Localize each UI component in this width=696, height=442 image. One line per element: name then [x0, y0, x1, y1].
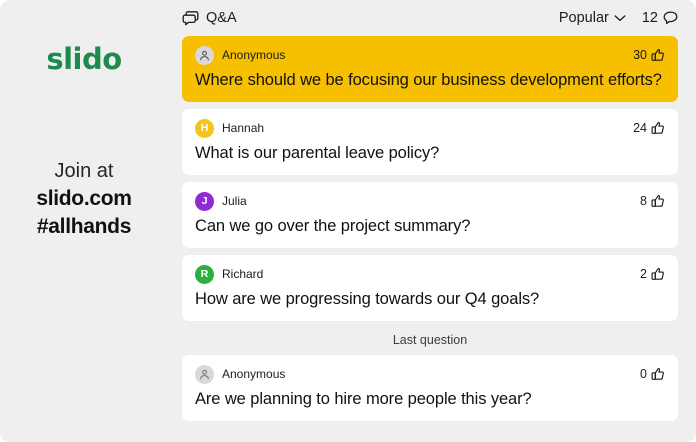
qa-header-controls: Popular 12: [559, 10, 678, 26]
slido-logo: slido: [0, 42, 168, 76]
left-info-panel: slido Join at slido.com #allhands: [0, 0, 168, 442]
avatar: R: [195, 265, 214, 284]
question-card[interactable]: H Hannah 24 What is our parental leave: [182, 109, 678, 175]
upvote-count: 2: [640, 267, 647, 281]
question-text: What is our parental leave policy?: [195, 142, 665, 164]
upvote-count: 8: [640, 194, 647, 208]
thumbs-up-icon: [651, 194, 665, 208]
thumbs-up-icon: [651, 367, 665, 381]
qa-title-label: Q&A: [206, 10, 237, 26]
question-author: Anonymous: [222, 48, 285, 62]
question-author: Richard: [222, 267, 263, 281]
question-text: Where should we be focusing our business…: [195, 69, 665, 91]
person-icon: [199, 369, 210, 380]
upvote-control[interactable]: 30: [633, 48, 665, 62]
question-card-header: R Richard 2: [195, 264, 665, 284]
avatar: H: [195, 119, 214, 138]
upvote-count: 24: [633, 121, 647, 135]
qa-header: Q&A Popular 12: [168, 0, 688, 36]
upvote-control[interactable]: 0: [640, 367, 665, 381]
upvote-control[interactable]: 24: [633, 121, 665, 135]
join-at-label: Join at: [0, 158, 168, 185]
chevron-down-icon: [614, 14, 626, 22]
slido-presentation-screen: slido Join at slido.com #allhands Q&A Po…: [0, 0, 696, 442]
speech-bubbles-icon: [182, 11, 199, 26]
question-text: Are we planning to hire more people this…: [195, 388, 665, 410]
question-card[interactable]: J Julia 8 Can we go over the project s: [182, 182, 678, 248]
avatar-initial: H: [201, 122, 209, 134]
person-icon: [199, 50, 210, 61]
question-author: Julia: [222, 194, 247, 208]
question-card-header: J Julia 8: [195, 191, 665, 211]
avatar: [195, 46, 214, 65]
upvote-control[interactable]: 2: [640, 267, 665, 281]
avatar-initial: R: [201, 268, 209, 280]
question-card[interactable]: Anonymous 30 Where should we be focusing…: [182, 36, 678, 102]
question-card[interactable]: Anonymous 0 Are we planning to hire more…: [182, 355, 678, 421]
question-card[interactable]: R Richard 2 How are we progressing tow: [182, 255, 678, 321]
question-card-header: H Hannah 24: [195, 118, 665, 138]
question-author: Anonymous: [222, 367, 285, 381]
question-text: How are we progressing towards our Q4 go…: [195, 288, 665, 310]
qa-panel: Q&A Popular 12: [168, 0, 696, 442]
avatar: J: [195, 192, 214, 211]
upvote-count: 30: [633, 48, 647, 62]
question-text: Can we go over the project summary?: [195, 215, 665, 237]
question-card-header: Anonymous 0: [195, 364, 665, 384]
sort-dropdown-label: Popular: [559, 10, 609, 26]
last-question-divider: Last question: [182, 328, 678, 355]
join-event-code: #allhands: [0, 213, 168, 241]
thumbs-up-icon: [651, 48, 665, 62]
question-card-header: Anonymous 30: [195, 45, 665, 65]
upvote-control[interactable]: 8: [640, 194, 665, 208]
upvote-count: 0: [640, 367, 647, 381]
speech-bubble-icon: [663, 11, 678, 25]
avatar: [195, 365, 214, 384]
join-url: slido.com: [0, 185, 168, 213]
thumbs-up-icon: [651, 121, 665, 135]
question-count-group: 12: [642, 10, 678, 26]
question-count-value: 12: [642, 10, 658, 26]
thumbs-up-icon: [651, 267, 665, 281]
join-instructions: Join at slido.com #allhands: [0, 158, 168, 241]
question-list: Anonymous 30 Where should we be focusing…: [168, 36, 688, 421]
avatar-initial: J: [202, 195, 208, 207]
sort-dropdown[interactable]: Popular: [559, 10, 626, 26]
question-author: Hannah: [222, 121, 264, 135]
qa-title-group: Q&A: [182, 10, 237, 26]
